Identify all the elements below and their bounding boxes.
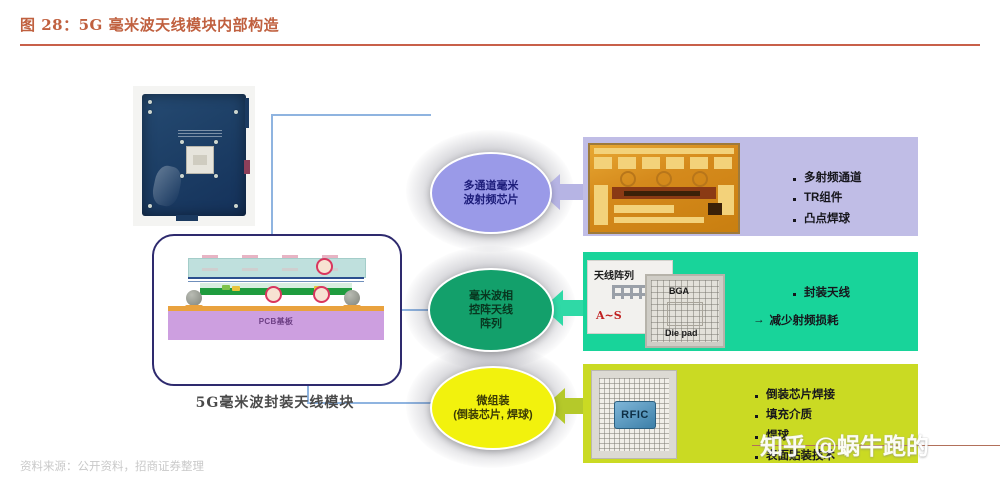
pcb-mount-hole <box>214 174 218 178</box>
die-outline <box>667 302 703 326</box>
note-arrow-icon: → <box>753 314 765 326</box>
bullet-item: 封装天线 <box>793 288 850 300</box>
note-text: 减少射频损耗 <box>770 312 839 328</box>
rf-component <box>222 285 230 290</box>
solder-joint <box>185 305 203 310</box>
pcb-board-body <box>142 94 246 216</box>
rfic-package-photo: RFIC <box>591 370 677 459</box>
pcb-silkscreen <box>178 130 222 139</box>
ellipse-antenna-line1: 毫米波相 <box>469 289 513 303</box>
bga-package-photo: BGA Die pad <box>645 274 725 348</box>
module-caption: 5G毫米波封装天线模块 <box>152 392 398 412</box>
ellipse-phased-array-antenna[interactable]: 毫米波相 控阵天线 阵列 <box>428 268 554 352</box>
ellipse-antenna-line3: 阵列 <box>469 317 513 331</box>
antenna-patch <box>242 255 258 258</box>
bullet-item: 倒装芯片焊接 <box>755 390 835 402</box>
antenna-feed-plane <box>188 281 364 282</box>
cross-section-drawing: PCB基板 <box>168 256 384 340</box>
pcb-mount-hole <box>148 110 152 114</box>
rf-die-photo <box>588 143 740 234</box>
title-divider <box>20 44 980 46</box>
antenna-patch <box>202 255 218 258</box>
watermark-text: 知乎 @蜗牛跑的 <box>760 427 960 461</box>
panel-rf-chip: 多射频通道 TR组件 凸点焊球 <box>583 137 918 236</box>
pcb-mount-hole <box>234 204 238 208</box>
antenna-marking: A~S <box>596 309 622 322</box>
page-title: 图 28：5G 毫米波天线模块内部构造 <box>20 14 279 35</box>
highlight-marker-antenna <box>265 286 282 303</box>
bullet-item: 多射频通道 <box>793 173 862 185</box>
watermark: 知乎 @蜗牛跑的 <box>752 424 1000 466</box>
solder-joint <box>343 305 361 310</box>
antenna-trace <box>242 268 258 271</box>
pcb-substrate-label: PCB基板 <box>168 316 384 327</box>
figure-header: 图 28：5G 毫米波天线模块内部构造 <box>0 0 1000 48</box>
source-note: 资料来源：公开资料，招商证券整理 <box>20 458 204 474</box>
module-cross-section-card: PCB基板 <box>152 234 402 386</box>
bga-label: BGA <box>669 286 689 296</box>
rfic-die-label: RFIC <box>614 401 656 429</box>
pcb-mount-hole <box>234 110 238 114</box>
antenna-trace <box>202 268 218 271</box>
highlight-marker-solder <box>313 286 330 303</box>
ellipse-antenna-line2: 控阵天线 <box>469 303 513 317</box>
pcb-highlight-gleam <box>150 164 184 209</box>
ellipse-chip-line2: 波射频芯片 <box>464 193 519 207</box>
diagram-canvas: PCB基板 5G毫米波封装天线模块 <box>0 52 1000 432</box>
panel-antenna-bullets: 封装天线 <box>753 288 850 309</box>
antenna-patch <box>282 255 298 258</box>
pcb-mount-hole <box>214 140 218 144</box>
pcb-mount-hole <box>180 140 184 144</box>
antenna-array-label: 天线阵列 <box>594 267 634 282</box>
bullet-item: 凸点焊球 <box>793 214 862 226</box>
pcb-mount-hole <box>180 174 184 178</box>
pcb-edge-tab <box>176 215 198 221</box>
die-pad-label: Die pad <box>665 328 698 338</box>
antenna-ground-plane <box>188 277 364 279</box>
connector-line-chip-h <box>271 114 431 116</box>
ellipse-assembly-line2: (倒装芯片, 焊球) <box>453 408 532 422</box>
pcb-mount-hole <box>148 204 152 208</box>
rf-component <box>232 286 240 291</box>
pcb-edge-tab <box>245 98 249 128</box>
panel-rf-chip-bullets: 多射频通道 TR组件 凸点焊球 <box>753 173 862 235</box>
antenna-note: → 减少射频损耗 <box>753 312 839 328</box>
solder-ball <box>344 290 360 306</box>
pcb-connector <box>244 160 250 174</box>
pcb-antenna-module <box>186 146 214 174</box>
highlight-marker-patch <box>316 258 333 275</box>
bullet-item: TR组件 <box>793 193 862 205</box>
ellipse-micro-assembly[interactable]: 微组装 (倒装芯片, 焊球) <box>430 366 556 450</box>
panel-antenna: 天线阵列 A~S BGA Die pad 封装天线 → 减少射频损耗 <box>583 252 918 351</box>
ellipse-assembly-line1: 微组装 <box>453 394 532 408</box>
pcb-board-photo <box>133 86 255 226</box>
pcb-mount-hole <box>148 100 152 104</box>
bullet-item: 填充介质 <box>755 410 835 422</box>
solder-ball <box>186 290 202 306</box>
ellipse-multi-channel-rf-chip[interactable]: 多通道毫米 波射频芯片 <box>430 152 552 234</box>
antenna-trace <box>282 268 298 271</box>
ellipse-chip-line1: 多通道毫米 <box>464 179 519 193</box>
